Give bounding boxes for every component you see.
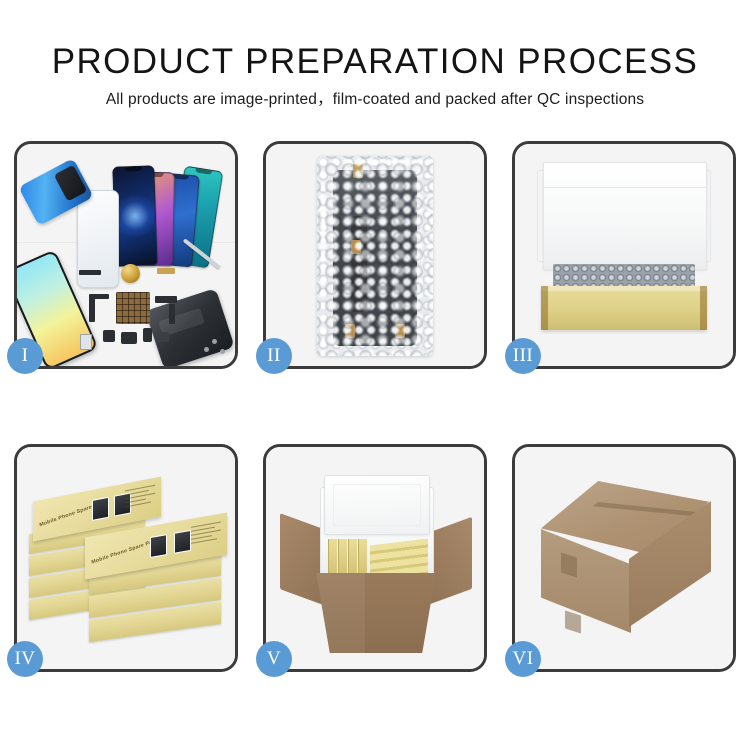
step-6-image (515, 447, 733, 669)
bubble-wrap-bag (317, 156, 433, 356)
box-stack-group: Mobile Phone Spare Parts Mobile Phone Sp… (27, 467, 227, 657)
step-badge-6: VI (505, 641, 541, 677)
screw-3 (220, 349, 225, 354)
lid-text-lines-2 (191, 521, 221, 552)
step-3-image (515, 144, 733, 366)
step-panel-6: VI (512, 444, 736, 672)
sim-tray-part (80, 334, 92, 350)
step-badge-1: I (7, 338, 43, 374)
lid-phone-image-4 (174, 530, 191, 554)
carton-tape-2 (565, 610, 581, 633)
foam-lid-panel (543, 162, 707, 270)
lid-phone-image-1 (92, 497, 109, 521)
part-strip-1 (79, 270, 101, 275)
step-badge-4: IV (7, 641, 43, 677)
phone-fan-group (103, 158, 233, 266)
steps-grid: I II (14, 141, 736, 672)
page-subtitle: All products are image-printed，film-coat… (0, 82, 750, 109)
step-1-image (17, 144, 235, 366)
flex-cable-4 (169, 304, 175, 324)
step-panel-5: V (263, 444, 487, 672)
step-badge-2: II (256, 338, 292, 374)
flex-cable-1 (89, 296, 95, 322)
gold-coil-part (121, 264, 140, 283)
foam-box-lid (324, 475, 430, 535)
screw-1 (212, 339, 217, 344)
flex-cable-3 (155, 296, 177, 303)
step-panel-1: I (14, 141, 238, 369)
yellow-box-tray (541, 286, 707, 330)
chip-grid-part (116, 292, 150, 324)
step-badge-3: III (505, 338, 541, 374)
lid-phone-image-3 (150, 534, 167, 558)
step-badge-5: V (256, 641, 292, 677)
step-5-image (266, 447, 484, 669)
step-panel-4: Mobile Phone Spare Parts Mobile Phone Sp… (14, 444, 238, 672)
carton-body-front (308, 573, 444, 653)
header: PRODUCT PREPARATION PROCESS All products… (0, 0, 750, 109)
step-2-image (266, 144, 484, 366)
tray-edge-right (700, 286, 707, 330)
small-component-2 (121, 332, 137, 344)
product-preparation-infographic: PRODUCT PREPARATION PROCESS All products… (0, 0, 750, 750)
bubble-texture-coarse (317, 156, 433, 356)
small-component-1 (103, 330, 115, 342)
lid-text-lines-1 (125, 485, 155, 516)
inner-box-group (537, 162, 711, 346)
sealed-carton-group (531, 481, 719, 641)
part-strip-gold (157, 268, 175, 274)
screw-2 (204, 347, 209, 352)
tray-edge-left (541, 286, 548, 330)
phone-dark-blue (112, 165, 157, 266)
step-panel-2: II (263, 141, 487, 369)
small-component-4 (157, 332, 169, 342)
small-component-3 (143, 328, 152, 342)
step-panel-3: III (512, 141, 736, 369)
step-4-image: Mobile Phone Spare Parts Mobile Phone Sp… (17, 447, 235, 669)
open-carton-group (280, 469, 472, 655)
flex-cable-2 (89, 294, 109, 299)
page-title: PRODUCT PREPARATION PROCESS (0, 0, 750, 82)
